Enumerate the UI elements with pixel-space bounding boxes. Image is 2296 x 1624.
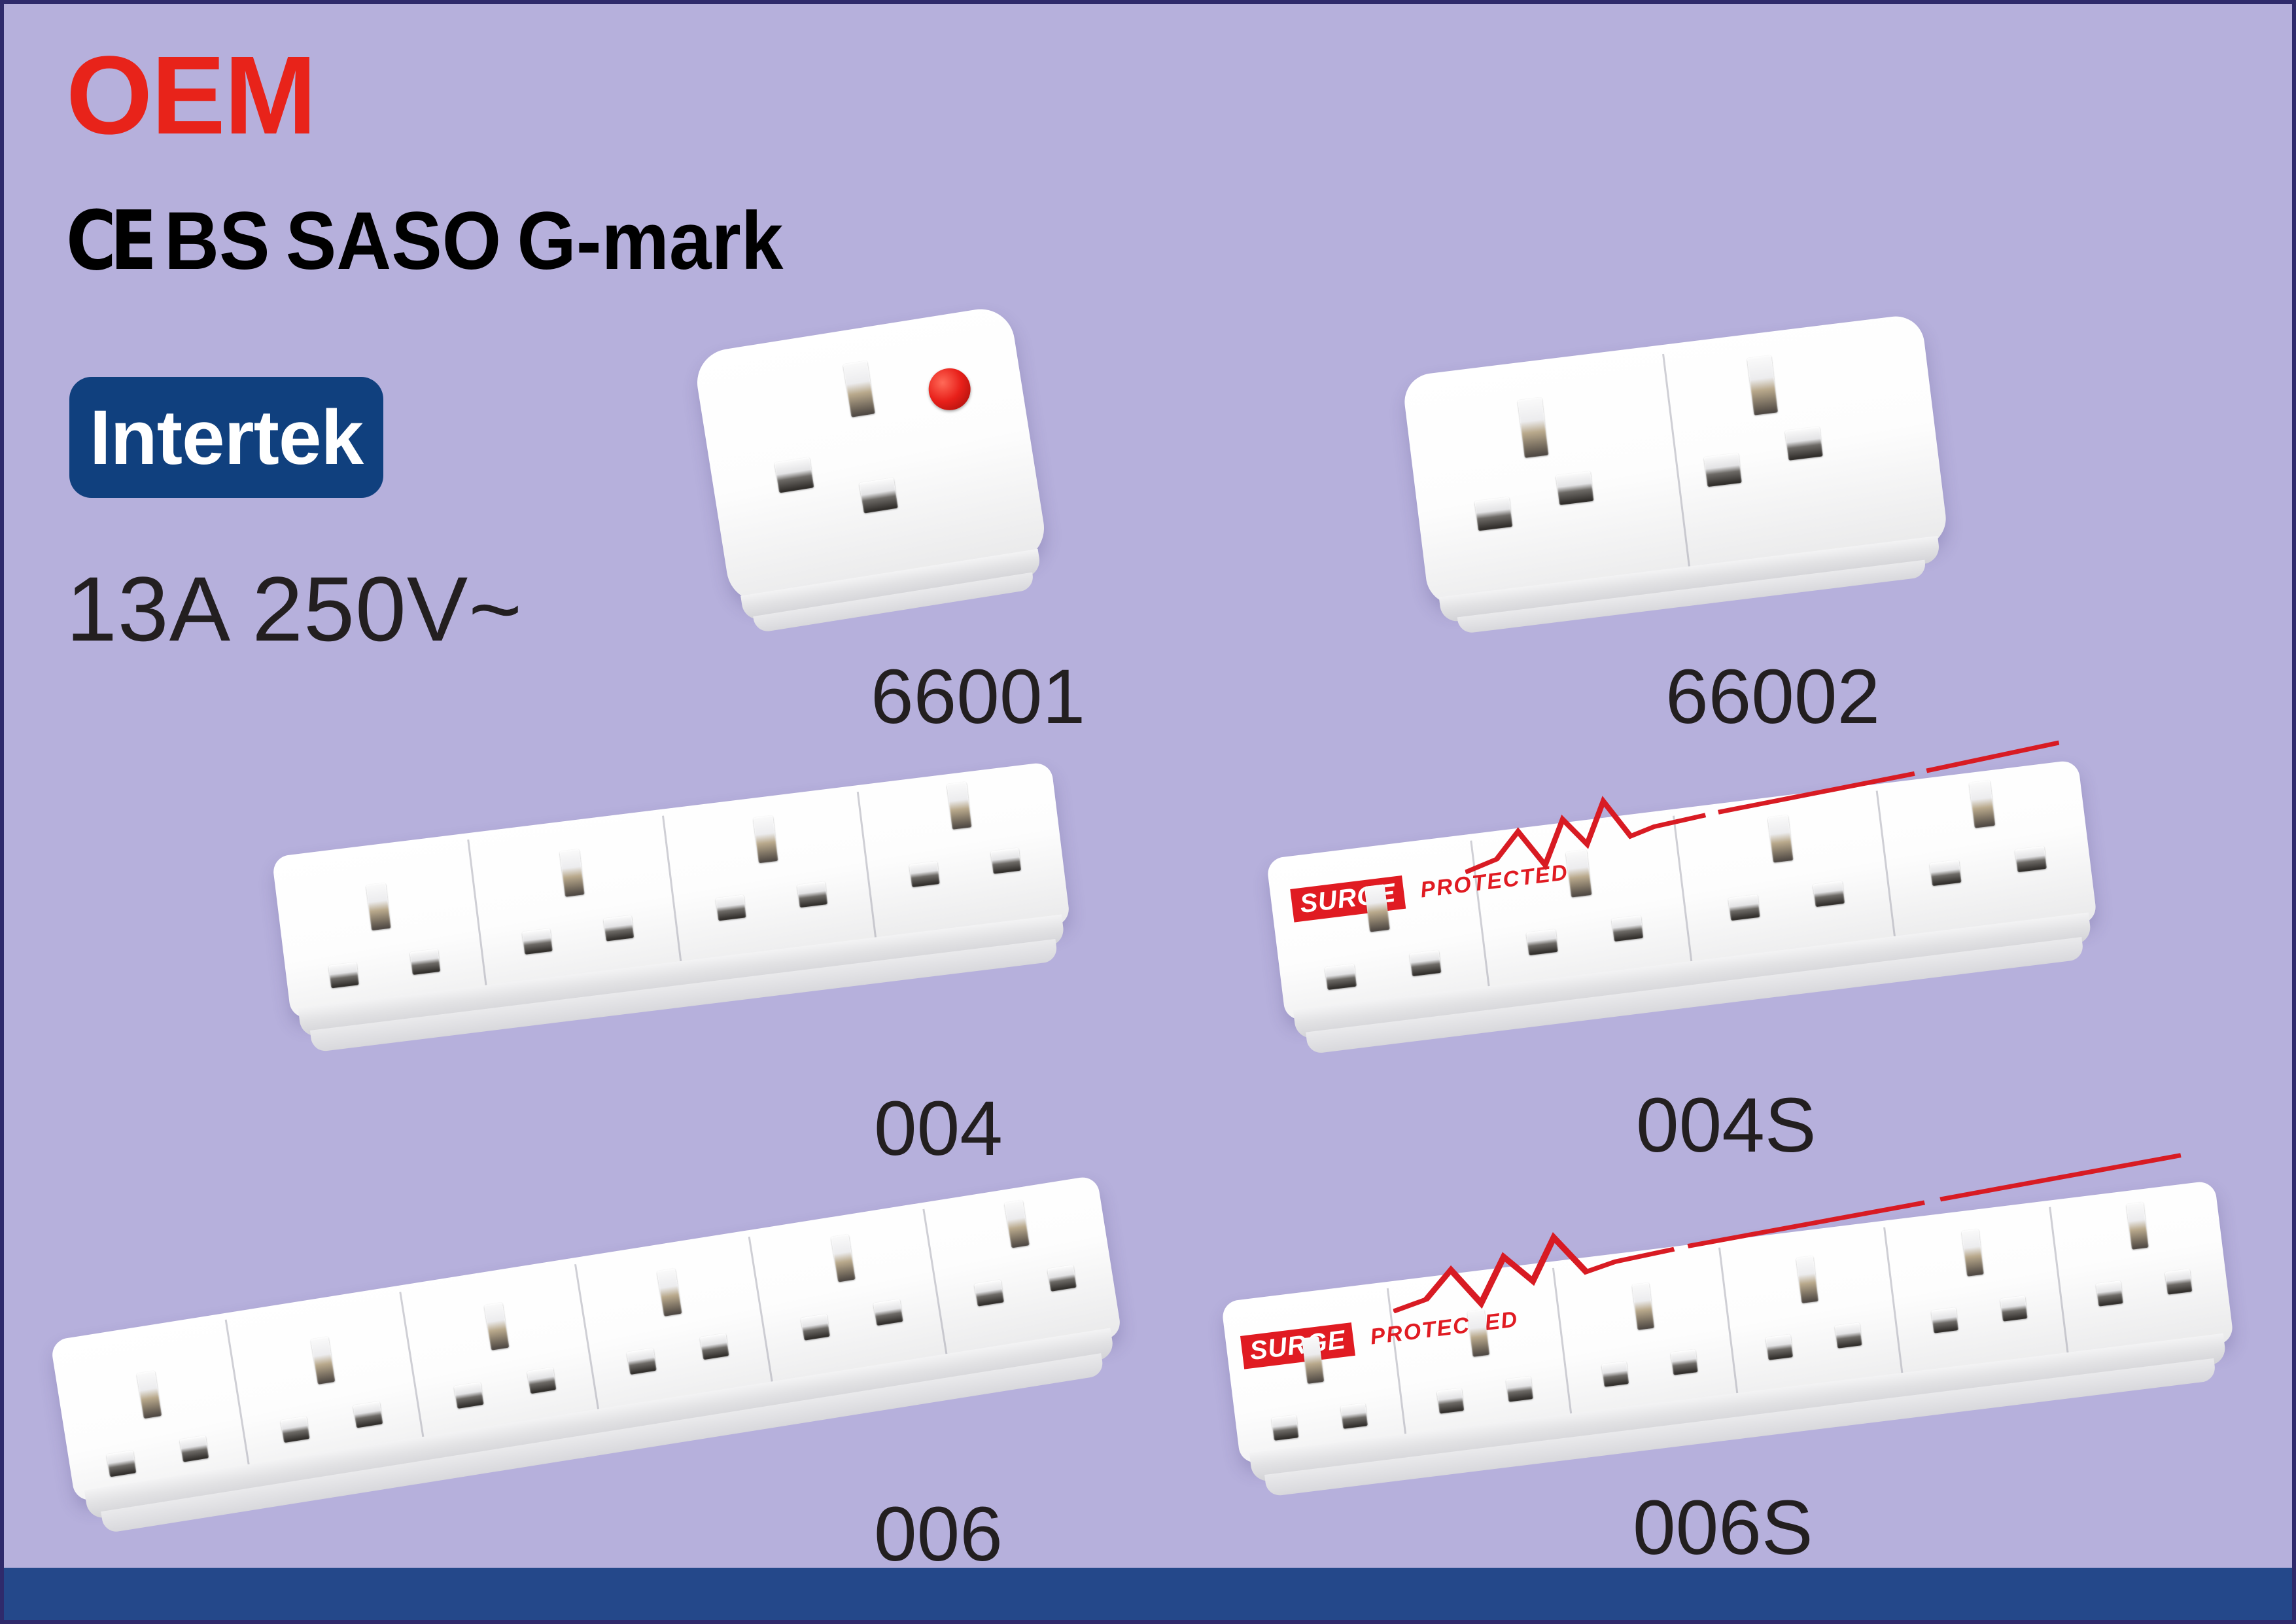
product-image-006 — [50, 1175, 1122, 1502]
electrical-rating: 13A 250V~ — [66, 563, 523, 655]
g-mark-label: G-mark — [517, 196, 783, 287]
product-image-004 — [271, 762, 1071, 1019]
footer-bar — [4, 1568, 2292, 1620]
product-caption-004: 004 — [874, 1090, 1003, 1167]
page-title: OEM — [66, 40, 315, 151]
product-caption-006: 006 — [874, 1496, 1003, 1573]
ce-mark-icon: CE — [66, 194, 151, 289]
surge-word: SURGE — [1240, 1322, 1355, 1369]
product-caption-006S: 006S — [1633, 1489, 1813, 1566]
product-caption-004S: 004S — [1636, 1087, 1817, 1164]
product-catalog-page: OEM CEBSSASOG-mark Intertek 13A 250V~ 66… — [0, 0, 2296, 1624]
product-image-66001 — [693, 304, 1049, 607]
product-image-66002 — [1401, 313, 1949, 608]
neon-indicator-icon — [926, 365, 973, 414]
certification-marks: CEBSSASOG-mark — [66, 200, 783, 282]
product-caption-66002: 66002 — [1665, 658, 1880, 735]
product-image-006S: SURGE PROTECTED — [1221, 1180, 2234, 1465]
saso-mark-label: SASO — [286, 196, 501, 287]
product-caption-66001: 66001 — [871, 658, 1085, 735]
intertek-label: Intertek — [90, 393, 363, 482]
product-image-004S: SURGE PROTECTED — [1266, 760, 2097, 1021]
surge-waveform-icon — [1386, 1152, 2191, 1327]
bs-mark-label: BS — [164, 196, 270, 287]
intertek-badge: Intertek — [69, 377, 383, 498]
